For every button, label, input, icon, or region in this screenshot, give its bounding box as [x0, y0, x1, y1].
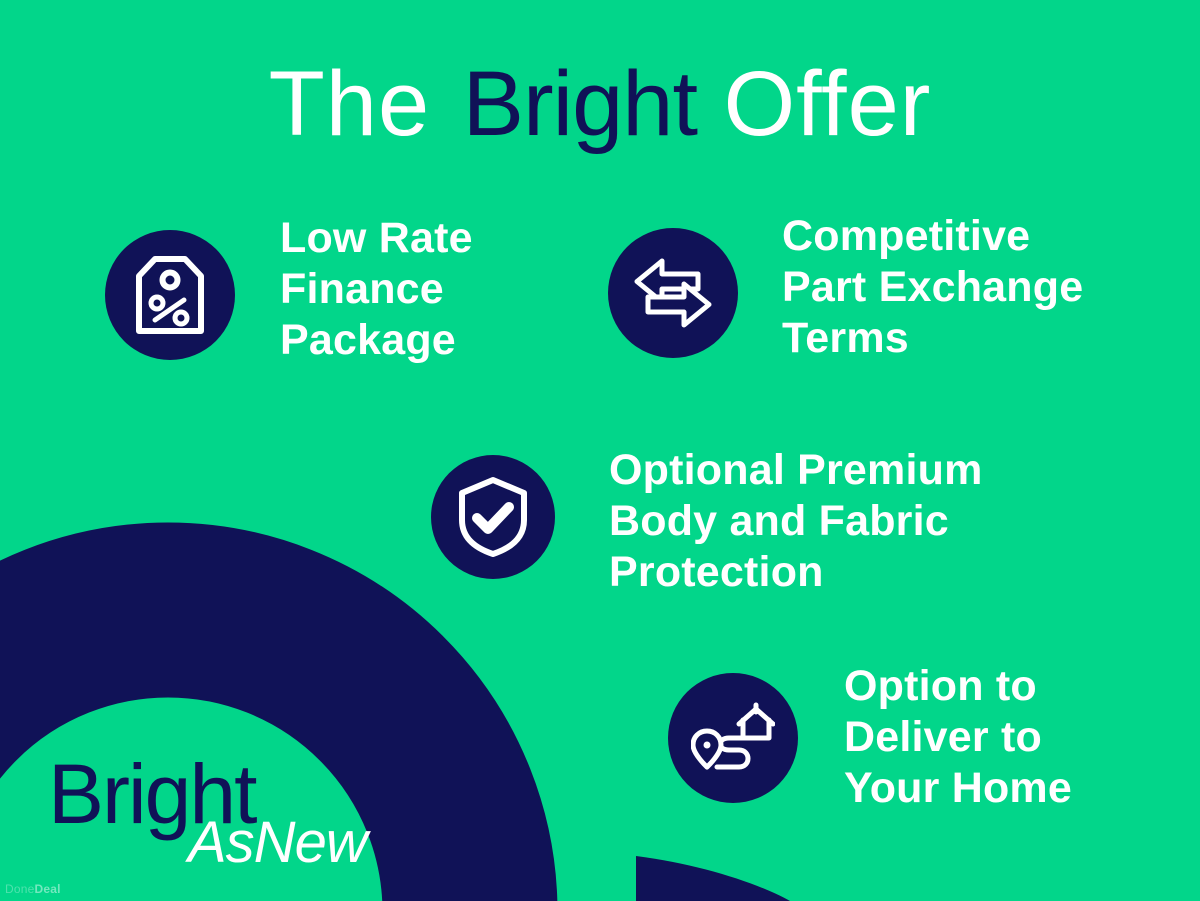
donedeal-watermark: DoneDeal [5, 882, 61, 896]
title-word-bright: Bright [457, 53, 697, 155]
promo-slide: The Bright Offer Low Rate Finance Packag… [0, 0, 1200, 901]
feature-option-to-deliver-to-your-home: Option to Deliver to Your Home [668, 661, 1144, 814]
page-title: The Bright Offer [0, 56, 1200, 153]
brand-logo: Bright AsNew [48, 752, 378, 882]
exchange-arrows-icon-badge [608, 228, 738, 358]
feature-low-rate-finance-package: Low Rate Finance Package [105, 213, 610, 366]
feature-label: Low Rate Finance Package [280, 213, 610, 366]
shield-check-icon-badge [431, 455, 555, 579]
price-tag-percent-icon [131, 254, 209, 336]
feature-competitive-part-exchange-terms: Competitive Part Exchange Terms [608, 211, 1142, 364]
feature-label: Option to Deliver to Your Home [844, 661, 1144, 814]
title-word-offer: Offer [724, 53, 932, 155]
watermark-prefix: Done [5, 882, 35, 896]
price-tag-percent-icon-badge [105, 230, 235, 360]
navy-wedge-shape [636, 856, 790, 901]
feature-label: Competitive Part Exchange Terms [782, 211, 1142, 364]
delivery-route-home-icon [691, 698, 775, 778]
delivery-route-home-icon-badge [668, 673, 798, 803]
title-word-the: The [269, 53, 431, 155]
logo-wordmark-asnew: AsNew [188, 814, 367, 872]
exchange-arrows-icon [632, 255, 714, 331]
feature-label: Optional Premium Body and Fabric Protect… [609, 445, 1029, 598]
watermark-suffix: Deal [35, 882, 61, 896]
shield-check-icon [456, 476, 530, 558]
feature-optional-premium-protection: Optional Premium Body and Fabric Protect… [431, 445, 1029, 598]
